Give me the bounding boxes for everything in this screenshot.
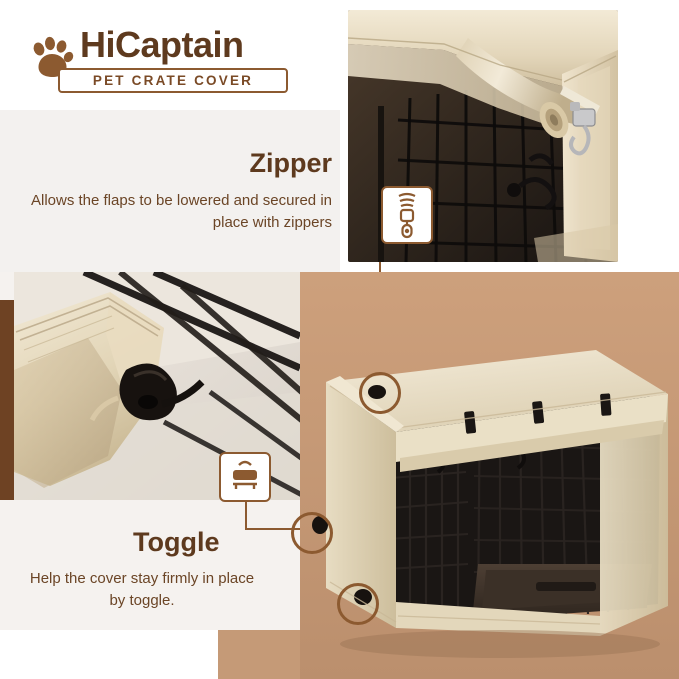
connector-line-toggle-vertical <box>245 502 247 530</box>
infographic-page: HiCaptain PET CRATE COVER <box>0 0 679 679</box>
highlight-ring-bottom <box>337 583 379 625</box>
brand-name: HiCaptain <box>80 24 244 66</box>
zipper-pull-icon <box>383 188 431 242</box>
toggle-clip-icon <box>221 454 269 500</box>
background-bottom-white <box>0 630 218 679</box>
highlight-ring-top <box>359 372 401 414</box>
highlight-ring-middle <box>291 512 333 554</box>
brand-tagline: PET CRATE COVER <box>60 70 286 91</box>
feature-title-toggle: Toggle <box>133 527 219 558</box>
zipper-icon-badge <box>381 186 433 244</box>
feature-title-zipper: Zipper <box>249 148 332 179</box>
feature-description-toggle: Help the cover stay firmly in place by t… <box>22 568 262 612</box>
feature-description-zipper: Allows the flaps to be lowered and secur… <box>30 190 332 234</box>
brand-logo: HiCaptain PET CRATE COVER <box>24 22 294 94</box>
toggle-icon-badge <box>219 452 271 502</box>
accent-bar <box>0 300 14 500</box>
brand-tagline-box: PET CRATE COVER <box>58 68 288 93</box>
